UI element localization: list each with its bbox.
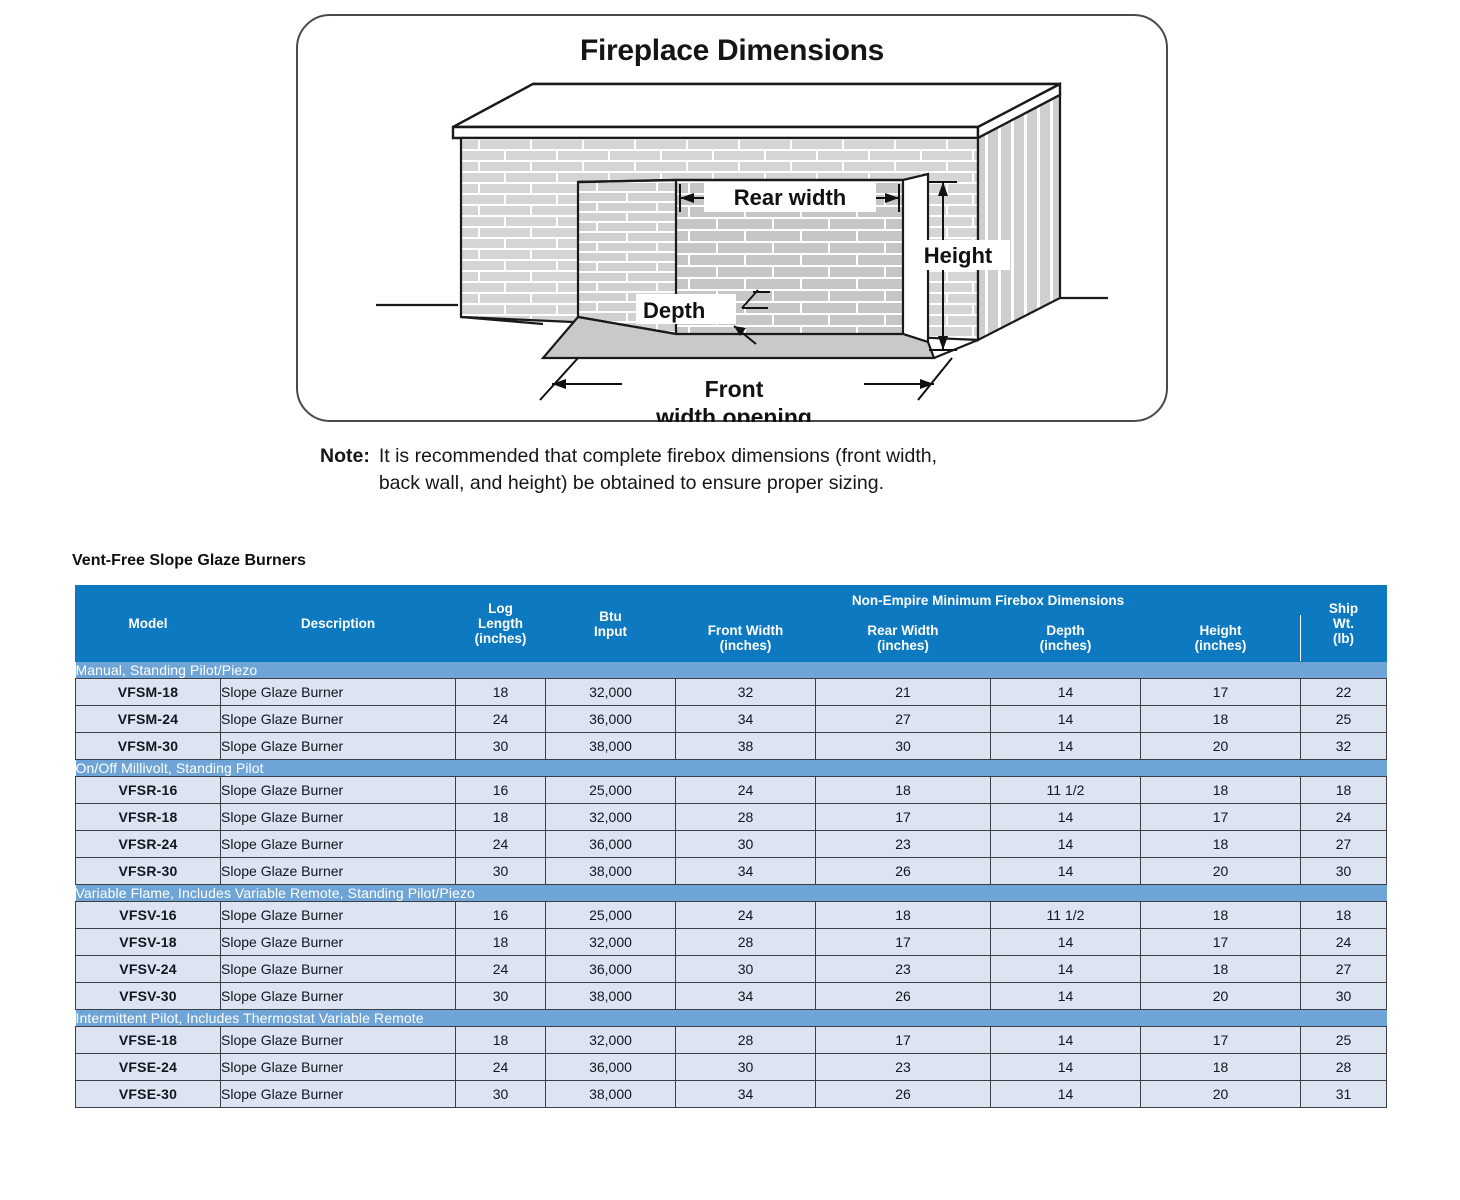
cell-height: 17 bbox=[1141, 1027, 1301, 1054]
cell-rear-width: 30 bbox=[816, 733, 991, 760]
cell-depth: 14 bbox=[991, 983, 1141, 1010]
cell-ship-wt: 25 bbox=[1301, 706, 1387, 733]
cell-log-length: 18 bbox=[456, 679, 546, 706]
cell-description: Slope Glaze Burner bbox=[221, 777, 456, 804]
cell-model: VFSV-24 bbox=[76, 956, 221, 983]
table-group-header-row: Intermittent Pilot, Includes Thermostat … bbox=[76, 1010, 1387, 1027]
cell-ship-wt: 18 bbox=[1301, 777, 1387, 804]
cell-model: VFSM-24 bbox=[76, 706, 221, 733]
cell-height: 18 bbox=[1141, 831, 1301, 858]
table-row: VFSV-18Slope Glaze Burner1832,0002817141… bbox=[76, 929, 1387, 956]
col-header-height: Height (inches) bbox=[1141, 615, 1301, 662]
cell-front-width: 28 bbox=[676, 1027, 816, 1054]
cell-model: VFSV-30 bbox=[76, 983, 221, 1010]
cell-front-width: 24 bbox=[676, 902, 816, 929]
cell-description: Slope Glaze Burner bbox=[221, 1027, 456, 1054]
cell-btu-input: 32,000 bbox=[546, 679, 676, 706]
table-row: VFSE-18Slope Glaze Burner1832,0002817141… bbox=[76, 1027, 1387, 1054]
cell-btu-input: 36,000 bbox=[546, 1054, 676, 1081]
cell-depth: 14 bbox=[991, 929, 1141, 956]
cell-log-length: 24 bbox=[456, 1054, 546, 1081]
table-row: VFSV-30Slope Glaze Burner3038,0003426142… bbox=[76, 983, 1387, 1010]
cell-model: VFSE-24 bbox=[76, 1054, 221, 1081]
cell-btu-input: 38,000 bbox=[546, 858, 676, 885]
cell-log-length: 16 bbox=[456, 902, 546, 929]
table-group-header-label: Variable Flame, Includes Variable Remote… bbox=[76, 885, 1387, 902]
note-label: Note: bbox=[320, 443, 370, 497]
cell-height: 17 bbox=[1141, 679, 1301, 706]
cell-front-width: 34 bbox=[676, 983, 816, 1010]
cell-model: VFSV-16 bbox=[76, 902, 221, 929]
cell-depth: 11 1/2 bbox=[991, 902, 1141, 929]
cell-height: 18 bbox=[1141, 1054, 1301, 1081]
cell-rear-width: 27 bbox=[816, 706, 991, 733]
cell-ship-wt: 28 bbox=[1301, 1054, 1387, 1081]
cell-model: VFSR-24 bbox=[76, 831, 221, 858]
cell-front-width: 30 bbox=[676, 831, 816, 858]
cell-height: 18 bbox=[1141, 902, 1301, 929]
ship-wt-line2: Wt. bbox=[1301, 616, 1386, 631]
depth-line1: Depth bbox=[991, 623, 1140, 638]
cell-log-length: 24 bbox=[456, 956, 546, 983]
col-header-ship-wt: Ship Wt. (lb) bbox=[1301, 586, 1387, 662]
cell-depth: 14 bbox=[991, 831, 1141, 858]
cell-ship-wt: 30 bbox=[1301, 983, 1387, 1010]
ship-wt-line3: (lb) bbox=[1301, 631, 1386, 646]
cell-model: VFSE-18 bbox=[76, 1027, 221, 1054]
front-width-label-line2: width opening bbox=[655, 404, 812, 422]
cell-depth: 14 bbox=[991, 733, 1141, 760]
col-header-model: Model bbox=[76, 586, 221, 662]
cell-rear-width: 26 bbox=[816, 983, 991, 1010]
cell-height: 20 bbox=[1141, 983, 1301, 1010]
cell-description: Slope Glaze Burner bbox=[221, 831, 456, 858]
cell-model: VFSV-18 bbox=[76, 929, 221, 956]
cell-log-length: 24 bbox=[456, 831, 546, 858]
cell-depth: 14 bbox=[991, 706, 1141, 733]
col-header-front-width: Front Width (inches) bbox=[676, 615, 816, 662]
col-header-depth: Depth (inches) bbox=[991, 615, 1141, 662]
cell-rear-width: 17 bbox=[816, 1027, 991, 1054]
cell-depth: 14 bbox=[991, 858, 1141, 885]
table-group-header-label: On/Off Millivolt, Standing Pilot bbox=[76, 760, 1387, 777]
cell-depth: 14 bbox=[991, 1027, 1141, 1054]
table-row: VFSE-24Slope Glaze Burner2436,0003023141… bbox=[76, 1054, 1387, 1081]
cell-ship-wt: 27 bbox=[1301, 831, 1387, 858]
log-length-line1: Log bbox=[456, 601, 545, 616]
cell-description: Slope Glaze Burner bbox=[221, 1054, 456, 1081]
cell-log-length: 24 bbox=[456, 706, 546, 733]
specifications-table: Model Description Log Length (inches) Bt… bbox=[75, 585, 1387, 1108]
cell-log-length: 18 bbox=[456, 929, 546, 956]
cell-ship-wt: 25 bbox=[1301, 1027, 1387, 1054]
cell-height: 17 bbox=[1141, 929, 1301, 956]
cell-btu-input: 38,000 bbox=[546, 733, 676, 760]
table-group-header-row: On/Off Millivolt, Standing Pilot bbox=[76, 760, 1387, 777]
cell-ship-wt: 32 bbox=[1301, 733, 1387, 760]
table-caption: Vent-Free Slope Glaze Burners bbox=[72, 552, 306, 570]
cell-rear-width: 18 bbox=[816, 902, 991, 929]
cell-description: Slope Glaze Burner bbox=[221, 1081, 456, 1108]
table-group-header-label: Intermittent Pilot, Includes Thermostat … bbox=[76, 1010, 1387, 1027]
rear-width-line2: (inches) bbox=[816, 638, 990, 653]
cell-front-width: 28 bbox=[676, 929, 816, 956]
table-head: Model Description Log Length (inches) Bt… bbox=[76, 586, 1387, 662]
cell-ship-wt: 24 bbox=[1301, 929, 1387, 956]
cell-height: 20 bbox=[1141, 733, 1301, 760]
cell-ship-wt: 31 bbox=[1301, 1081, 1387, 1108]
cell-front-width: 34 bbox=[676, 1081, 816, 1108]
cell-height: 20 bbox=[1141, 1081, 1301, 1108]
table-body: Manual, Standing Pilot/PiezoVFSM-18Slope… bbox=[76, 662, 1387, 1108]
fireplace-illustration: Rear width Height Depth bbox=[298, 62, 1170, 422]
height-label: Height bbox=[924, 243, 993, 268]
cell-ship-wt: 22 bbox=[1301, 679, 1387, 706]
cell-description: Slope Glaze Burner bbox=[221, 804, 456, 831]
cell-depth: 14 bbox=[991, 804, 1141, 831]
table-row: VFSV-24Slope Glaze Burner2436,0003023141… bbox=[76, 956, 1387, 983]
cell-model: VFSE-30 bbox=[76, 1081, 221, 1108]
group-header-firebox-dimensions: Non-Empire Minimum Firebox Dimensions bbox=[676, 586, 1301, 615]
front-width-line2: (inches) bbox=[676, 638, 815, 653]
cell-description: Slope Glaze Burner bbox=[221, 679, 456, 706]
btu-line2: Input bbox=[546, 624, 675, 639]
col-header-description-text: Description bbox=[221, 616, 455, 631]
height-line1: Height bbox=[1141, 623, 1300, 638]
cell-rear-width: 21 bbox=[816, 679, 991, 706]
cell-front-width: 32 bbox=[676, 679, 816, 706]
cell-height: 17 bbox=[1141, 804, 1301, 831]
rear-width-label: Rear width bbox=[734, 185, 846, 210]
depth-line2: (inches) bbox=[991, 638, 1140, 653]
cell-rear-width: 26 bbox=[816, 1081, 991, 1108]
cell-log-length: 30 bbox=[456, 1081, 546, 1108]
group-header-firebox-dimensions-text: Non-Empire Minimum Firebox Dimensions bbox=[676, 593, 1300, 608]
front-width-label-line1: Front bbox=[705, 376, 764, 402]
cell-ship-wt: 30 bbox=[1301, 858, 1387, 885]
cell-front-width: 34 bbox=[676, 706, 816, 733]
col-header-rear-width: Rear Width (inches) bbox=[816, 615, 991, 662]
cell-description: Slope Glaze Burner bbox=[221, 929, 456, 956]
cell-rear-width: 18 bbox=[816, 777, 991, 804]
note-line-1: It is recommended that complete firebox … bbox=[379, 445, 937, 467]
note-line-2: back wall, and height) be obtained to en… bbox=[379, 472, 884, 494]
note-block: Note: It is recommended that complete fi… bbox=[320, 443, 1200, 497]
cell-description: Slope Glaze Burner bbox=[221, 983, 456, 1010]
cell-rear-width: 17 bbox=[816, 804, 991, 831]
cell-model: VFSR-16 bbox=[76, 777, 221, 804]
table-group-header-label: Manual, Standing Pilot/Piezo bbox=[76, 662, 1387, 679]
cell-btu-input: 32,000 bbox=[546, 804, 676, 831]
cell-ship-wt: 18 bbox=[1301, 902, 1387, 929]
cell-height: 18 bbox=[1141, 956, 1301, 983]
table-row: VFSR-24Slope Glaze Burner2436,0003023141… bbox=[76, 831, 1387, 858]
cell-height: 18 bbox=[1141, 777, 1301, 804]
fireplace-diagram-panel: Fireplace Dimensions bbox=[296, 14, 1168, 422]
front-width-line1: Front Width bbox=[676, 623, 815, 638]
cell-rear-width: 26 bbox=[816, 858, 991, 885]
cell-log-length: 30 bbox=[456, 858, 546, 885]
cell-rear-width: 23 bbox=[816, 831, 991, 858]
cell-model: VFSM-18 bbox=[76, 679, 221, 706]
cell-depth: 14 bbox=[991, 1081, 1141, 1108]
cell-height: 20 bbox=[1141, 858, 1301, 885]
height-line2: (inches) bbox=[1141, 638, 1300, 653]
log-length-line3: (inches) bbox=[456, 631, 545, 646]
cell-rear-width: 23 bbox=[816, 1054, 991, 1081]
cell-btu-input: 38,000 bbox=[546, 983, 676, 1010]
table-row: VFSR-18Slope Glaze Burner1832,0002817141… bbox=[76, 804, 1387, 831]
cell-description: Slope Glaze Burner bbox=[221, 858, 456, 885]
cell-front-width: 30 bbox=[676, 956, 816, 983]
table-row: VFSR-30Slope Glaze Burner3038,0003426142… bbox=[76, 858, 1387, 885]
cell-btu-input: 38,000 bbox=[546, 1081, 676, 1108]
col-header-log-length: Log Length (inches) bbox=[456, 586, 546, 662]
cell-front-width: 30 bbox=[676, 1054, 816, 1081]
cell-description: Slope Glaze Burner bbox=[221, 902, 456, 929]
cell-model: VFSM-30 bbox=[76, 733, 221, 760]
cell-depth: 14 bbox=[991, 679, 1141, 706]
cell-btu-input: 36,000 bbox=[546, 706, 676, 733]
mantel-slab bbox=[453, 84, 1060, 138]
header-row-top: Model Description Log Length (inches) Bt… bbox=[76, 586, 1387, 615]
cell-height: 18 bbox=[1141, 706, 1301, 733]
cell-front-width: 24 bbox=[676, 777, 816, 804]
ship-wt-line1: Ship bbox=[1301, 601, 1386, 616]
cell-log-length: 18 bbox=[456, 804, 546, 831]
table-group-header-row: Variable Flame, Includes Variable Remote… bbox=[76, 885, 1387, 902]
col-header-btu-input: Btu Input bbox=[546, 586, 676, 662]
cell-btu-input: 36,000 bbox=[546, 831, 676, 858]
log-length-line2: Length bbox=[456, 616, 545, 631]
table-row: VFSE-30Slope Glaze Burner3038,0003426142… bbox=[76, 1081, 1387, 1108]
table-row: VFSV-16Slope Glaze Burner1625,000241811 … bbox=[76, 902, 1387, 929]
cell-description: Slope Glaze Burner bbox=[221, 733, 456, 760]
col-header-description: Description bbox=[221, 586, 456, 662]
cell-description: Slope Glaze Burner bbox=[221, 956, 456, 983]
cell-model: VFSR-30 bbox=[76, 858, 221, 885]
table-row: VFSM-30Slope Glaze Burner3038,0003830142… bbox=[76, 733, 1387, 760]
cell-btu-input: 25,000 bbox=[546, 902, 676, 929]
cell-model: VFSR-18 bbox=[76, 804, 221, 831]
table-row: VFSR-16Slope Glaze Burner1625,000241811 … bbox=[76, 777, 1387, 804]
cell-depth: 14 bbox=[991, 1054, 1141, 1081]
cell-log-length: 18 bbox=[456, 1027, 546, 1054]
cell-btu-input: 36,000 bbox=[546, 956, 676, 983]
btu-line1: Btu bbox=[546, 609, 675, 624]
cell-log-length: 30 bbox=[456, 733, 546, 760]
cell-ship-wt: 24 bbox=[1301, 804, 1387, 831]
cell-rear-width: 23 bbox=[816, 956, 991, 983]
cell-log-length: 30 bbox=[456, 983, 546, 1010]
cell-description: Slope Glaze Burner bbox=[221, 706, 456, 733]
cell-btu-input: 32,000 bbox=[546, 929, 676, 956]
cell-ship-wt: 27 bbox=[1301, 956, 1387, 983]
cell-depth: 11 1/2 bbox=[991, 777, 1141, 804]
table-row: VFSM-18Slope Glaze Burner1832,0003221141… bbox=[76, 679, 1387, 706]
cell-btu-input: 32,000 bbox=[546, 1027, 676, 1054]
cell-front-width: 38 bbox=[676, 733, 816, 760]
cell-front-width: 28 bbox=[676, 804, 816, 831]
rear-width-line1: Rear Width bbox=[816, 623, 990, 638]
cell-depth: 14 bbox=[991, 956, 1141, 983]
cell-front-width: 34 bbox=[676, 858, 816, 885]
col-header-model-text: Model bbox=[76, 616, 220, 631]
cell-btu-input: 25,000 bbox=[546, 777, 676, 804]
cell-log-length: 16 bbox=[456, 777, 546, 804]
depth-label: Depth bbox=[643, 298, 705, 323]
cell-rear-width: 17 bbox=[816, 929, 991, 956]
table-group-header-row: Manual, Standing Pilot/Piezo bbox=[76, 662, 1387, 679]
table-row: VFSM-24Slope Glaze Burner2436,0003427141… bbox=[76, 706, 1387, 733]
rear-width-dimension: Rear width bbox=[680, 182, 899, 212]
